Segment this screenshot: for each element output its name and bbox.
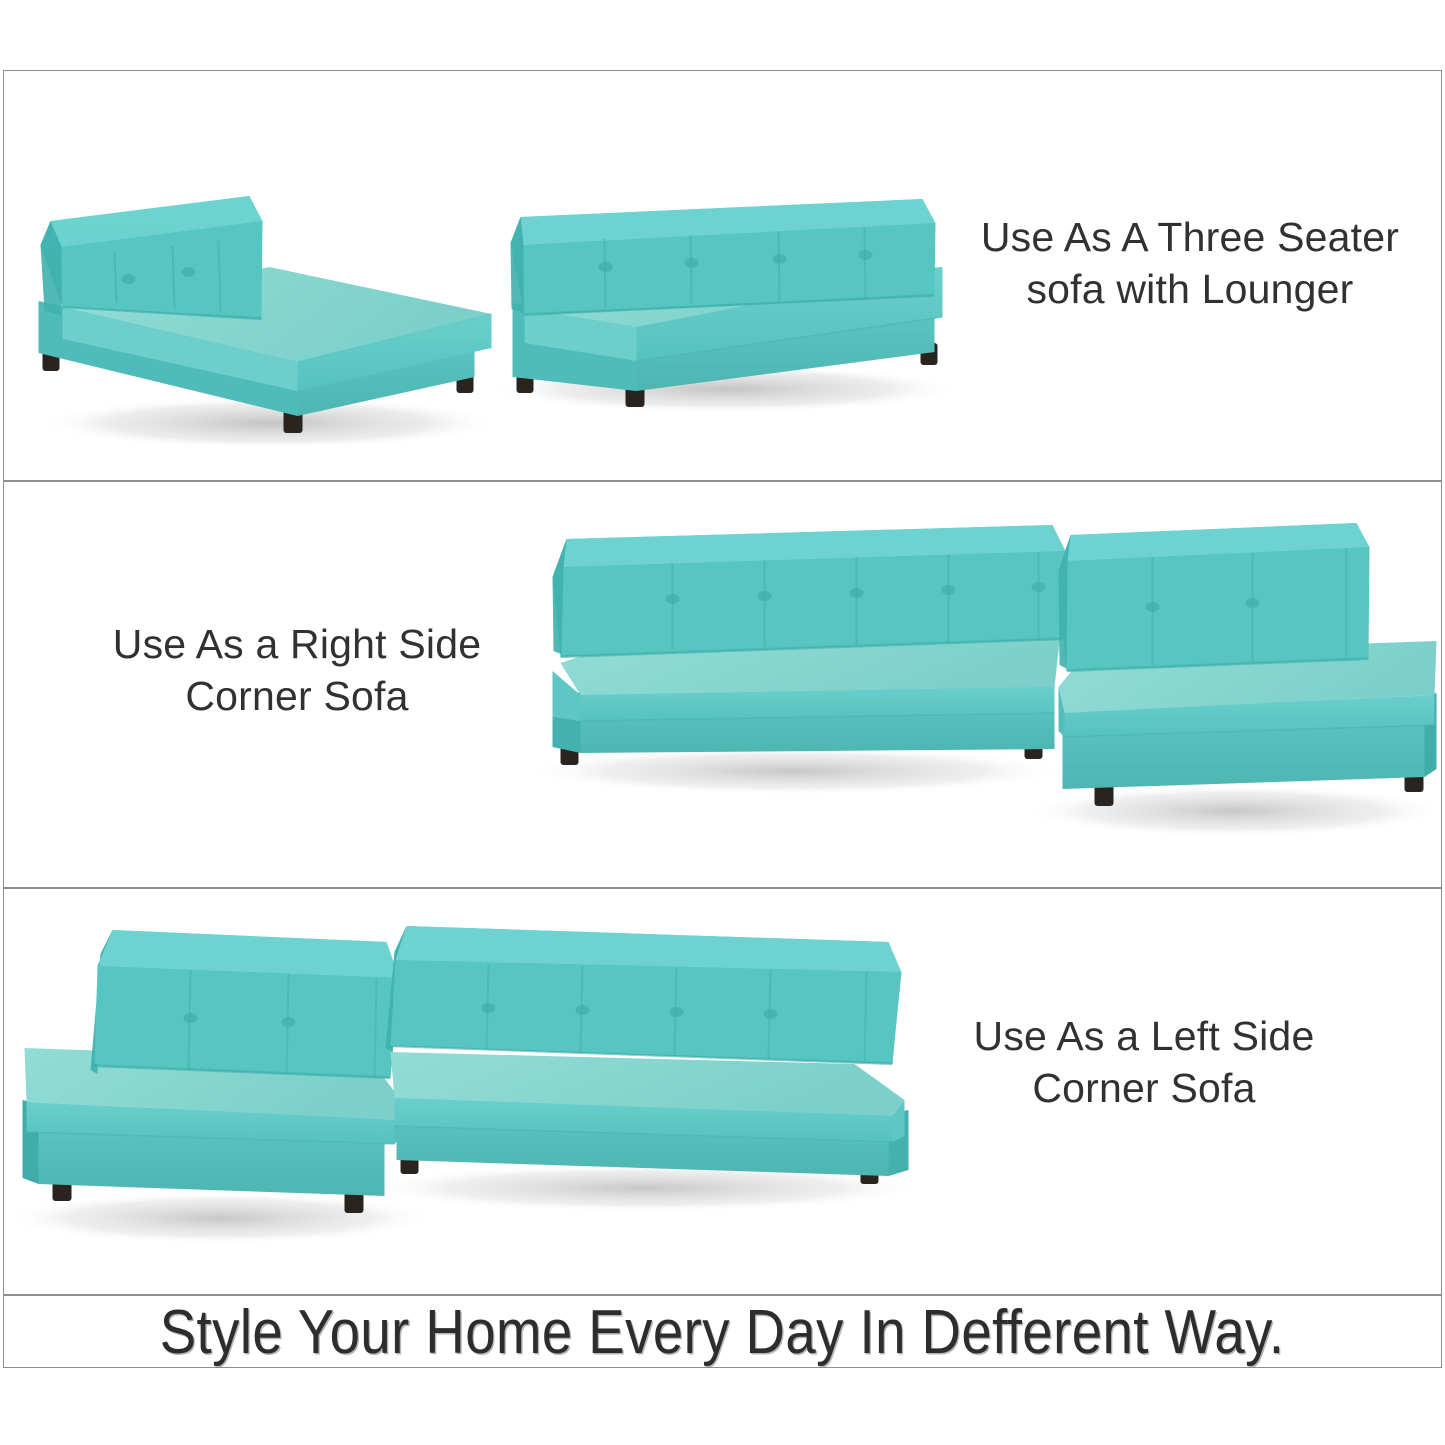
panel-right-corner: Use As a Right Side Corner Sofa — [4, 481, 1441, 887]
sofa-piece-chaise-right — [1059, 523, 1437, 806]
floor-shadow — [490, 365, 960, 413]
floor-shadow — [365, 1164, 925, 1212]
sofa-piece-three-seater-sofa — [511, 199, 943, 407]
floor-shadow — [525, 747, 1065, 795]
sofa-piece-chaise-left — [23, 930, 401, 1213]
product-infographic: Use As A Three Seater sofa with Lounger — [0, 0, 1445, 1445]
caption-three-seater: Use As A Three Seater sofa with Lounger — [944, 211, 1436, 316]
panel-three-seater: Use As A Three Seater sofa with Lounger — [4, 71, 1441, 480]
floor-shadow — [1025, 785, 1442, 837]
panel-left-corner: Use As a Left Side Corner Sofa — [4, 888, 1441, 1294]
floor-shadow — [5, 1192, 435, 1244]
caption-right-corner: Use As a Right Side Corner Sofa — [62, 618, 532, 723]
floor-shadow — [40, 397, 500, 449]
infographic-frame: Use As A Three Seater sofa with Lounger — [3, 70, 1442, 1368]
sofa-piece-lounger-chaise — [39, 196, 492, 433]
tagline-text: Style Your Home Every Day In Defferent W… — [160, 1297, 1285, 1368]
sofa-piece-three-seater-sofa — [386, 926, 909, 1184]
panel-tagline: Style Your Home Every Day In Defferent W… — [4, 1295, 1441, 1369]
sofa-piece-three-seater-sofa — [553, 525, 1066, 765]
caption-left-corner: Use As a Left Side Corner Sofa — [924, 1010, 1364, 1115]
